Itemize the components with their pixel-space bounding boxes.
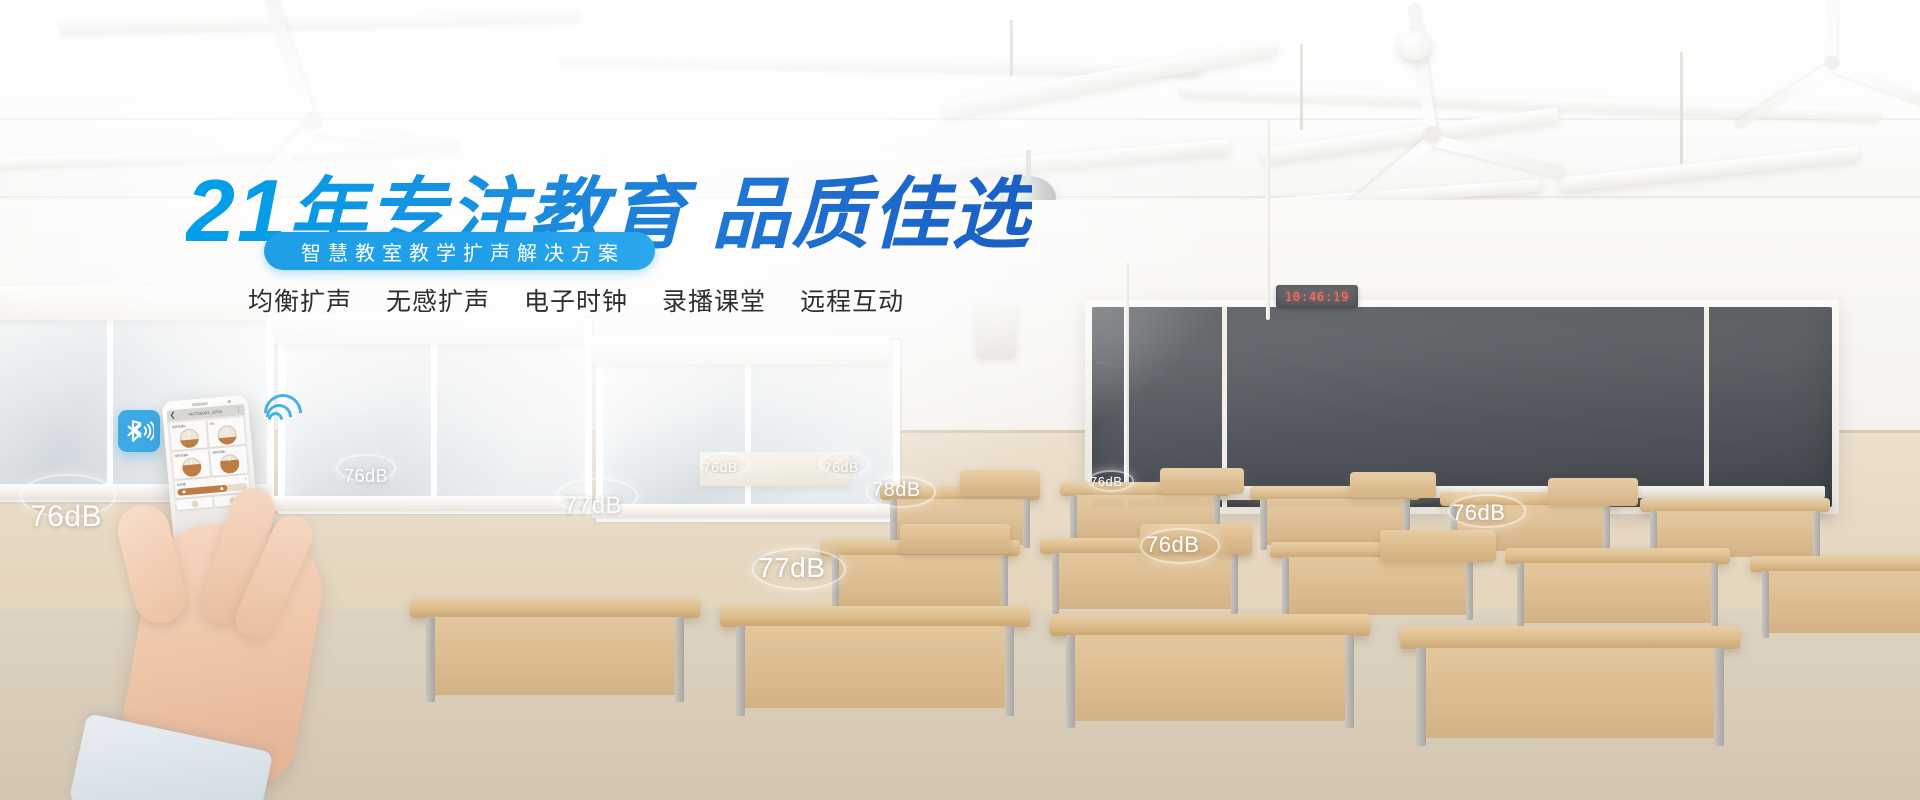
desk [1505,548,1730,628]
window [596,340,900,522]
back-icon[interactable]: ❮ [169,412,175,419]
mic-stand [1266,120,1270,320]
db-marker: 76dB [1090,474,1122,489]
window-blind [592,336,890,364]
desk [410,598,700,702]
wall-control-box [976,306,1016,358]
window-sill [592,504,892,518]
desk [1750,556,1920,638]
ceiling-fan [1430,132,1434,136]
bluetooth-icon [124,418,154,444]
chair [1350,472,1436,498]
db-marker: 76dB [30,500,102,534]
db-marker: 76dB [703,459,738,475]
phone-camera [228,400,231,403]
preset-tile[interactable] [214,494,251,507]
tile-row: 线阵音箱A MIC [169,417,245,450]
feature-item-1: 无感扩声 [386,282,490,318]
level-knob[interactable] [219,454,240,475]
feature-item-4: 远程互动 [800,282,904,318]
window-blind [274,314,582,344]
window [278,318,592,514]
ceiling-fan [1831,61,1834,64]
desk [1050,614,1370,728]
plus-icon[interactable]: + [244,477,247,481]
wifi-signal-icon [266,386,310,430]
pendant-rod [1300,44,1303,130]
ceiling-dome [1398,30,1432,60]
bluetooth-badge [118,410,160,452]
preset-tile[interactable] [176,497,213,510]
more-icon[interactable]: ⋮ [235,407,242,414]
hero-banner: 10:46:19 [0,0,1920,800]
feature-item-2: 电子时钟 [524,282,628,318]
chair [1380,530,1496,562]
level-knob[interactable] [216,425,237,446]
channel-tile[interactable]: MIC [207,417,245,447]
channel-tile[interactable]: 线阵音箱A [169,420,207,450]
feature-list: 均衡扩声 无感扩声 电子时钟 录播课堂 远程互动 [248,282,904,318]
channel-tile[interactable]: 线阵音箱C [210,446,248,476]
window-blind [0,286,266,320]
ceiling-fan [310,118,314,122]
chair [1548,478,1638,506]
master-volume-label: 总音量 [177,482,186,487]
app-body: 线阵音箱A MIC 线阵音箱B 线阵音箱C [167,415,255,542]
ceiling-seam [0,118,1920,120]
channel-tile[interactable]: 线阵音箱B [172,449,210,479]
chair [900,524,1010,554]
tile-row: 线阵音箱B 线阵音箱C [172,446,248,479]
db-marker: 76dB [824,459,859,475]
pendant-rod [1010,20,1013,76]
feature-item-3: 录播课堂 [662,282,766,318]
phone-screen: ❮ NXT36002_2P04 ⋮ 线阵音箱A MIC [166,404,255,542]
smartphone: ❮ NXT36002_2P04 ⋮ 线阵音箱A MIC [162,395,261,554]
db-marker: 76dB [344,466,388,487]
feature-item-0: 均衡扩声 [248,282,352,318]
chair [1160,468,1244,494]
level-knob[interactable] [179,428,200,449]
db-marker: 77dB [758,552,825,584]
desk [720,606,1030,716]
pendant-rod [1680,52,1683,164]
clock-time: 10:46:19 [1285,290,1349,304]
db-marker: 77dB [564,492,622,520]
db-marker: 78dB [872,479,921,502]
db-marker: 76dB [1452,500,1505,526]
window-sill [272,496,584,511]
subtitle-pill: 智慧教室教学扩声解决方案 [264,232,655,270]
level-knob[interactable] [181,457,202,478]
db-marker: 76dB [1146,532,1199,558]
desk [1400,626,1740,746]
chair [960,470,1040,496]
phone-earpiece [192,402,208,406]
digital-clock: 10:46:19 [1276,285,1358,308]
subtitle-text: 智慧教室教学扩声解决方案 [294,237,625,266]
